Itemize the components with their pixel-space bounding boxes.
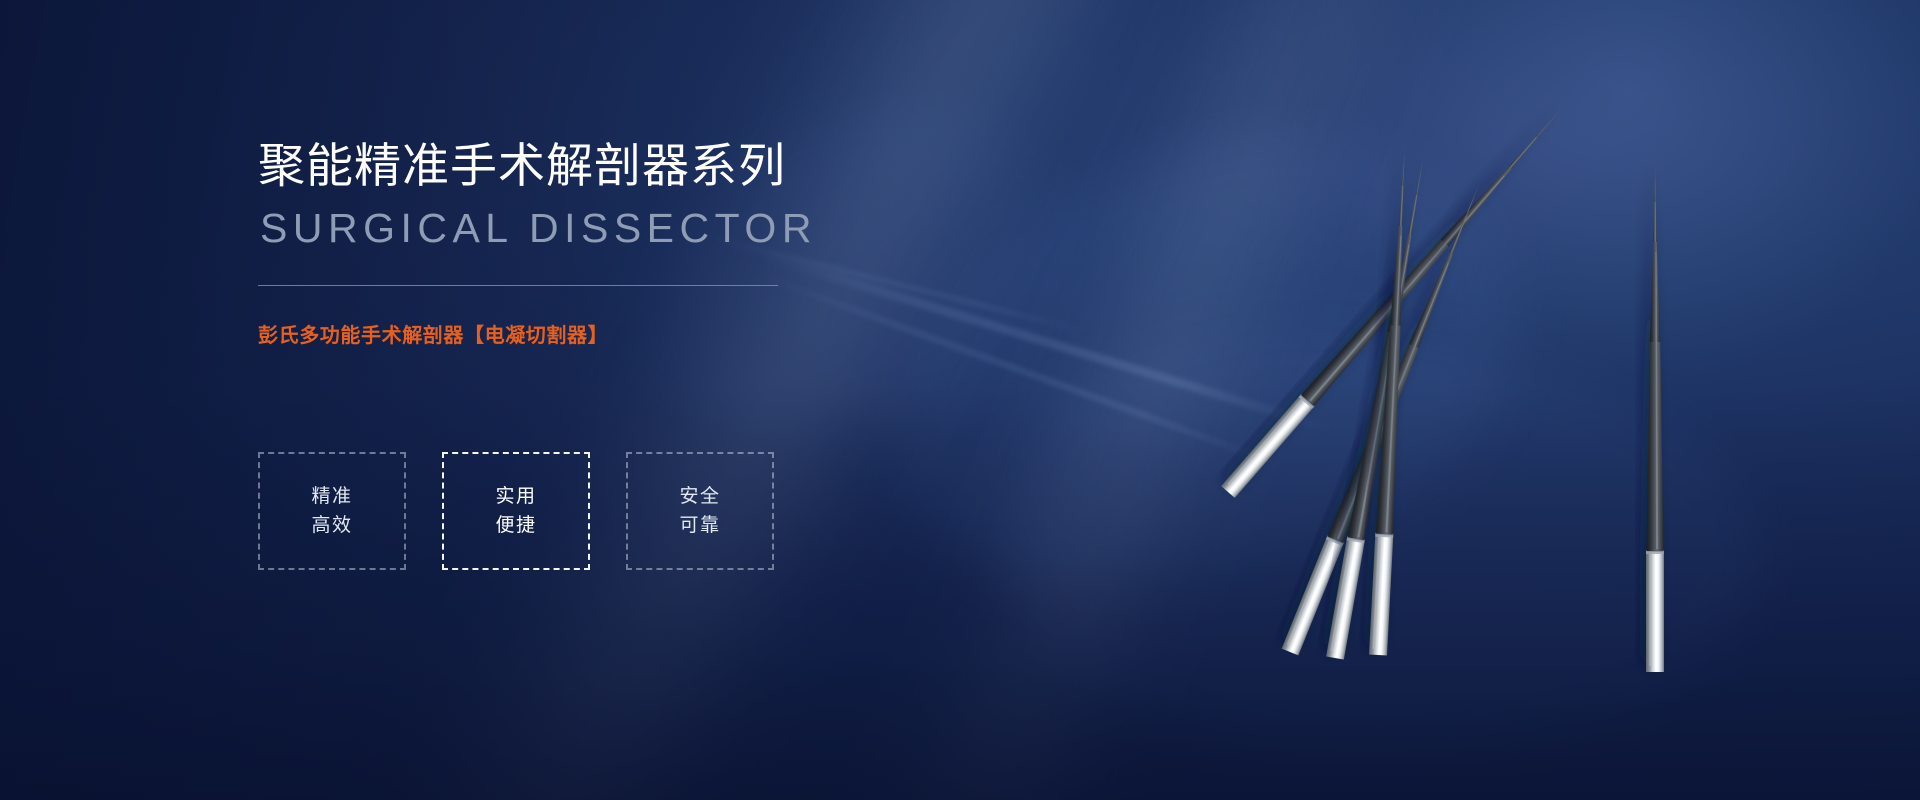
feature-line-2: 高效 bbox=[311, 511, 352, 540]
feature-line-2: 便捷 bbox=[495, 511, 536, 540]
feature-line-1: 精准 bbox=[311, 482, 352, 511]
feature-box-safety[interactable]: 安全 可靠 bbox=[626, 452, 774, 570]
bottom-vignette bbox=[0, 0, 1920, 800]
headline-block: 聚能精准手术解剖器系列 SURGICAL DISSECTOR 彭氏多功能手术解剖… bbox=[258, 136, 978, 348]
feature-box-practical[interactable]: 实用 便捷 bbox=[442, 452, 590, 570]
feature-box-group: 精准 高效 实用 便捷 安全 可靠 bbox=[258, 452, 774, 570]
divider-rule bbox=[258, 285, 778, 286]
page-subtitle-en: SURGICAL DISSECTOR bbox=[260, 203, 978, 253]
product-name-label: 彭氏多功能手术解剖器【电凝切割器】 bbox=[258, 319, 978, 348]
feature-box-precision[interactable]: 精准 高效 bbox=[258, 452, 406, 570]
feature-line-1: 安全 bbox=[679, 482, 720, 511]
surgical-dissector-banner: 聚能精准手术解剖器系列 SURGICAL DISSECTOR 彭氏多功能手术解剖… bbox=[0, 0, 1920, 800]
feature-line-2: 可靠 bbox=[679, 511, 720, 540]
feature-line-1: 实用 bbox=[495, 482, 536, 511]
page-title: 聚能精准手术解剖器系列 bbox=[258, 136, 978, 195]
